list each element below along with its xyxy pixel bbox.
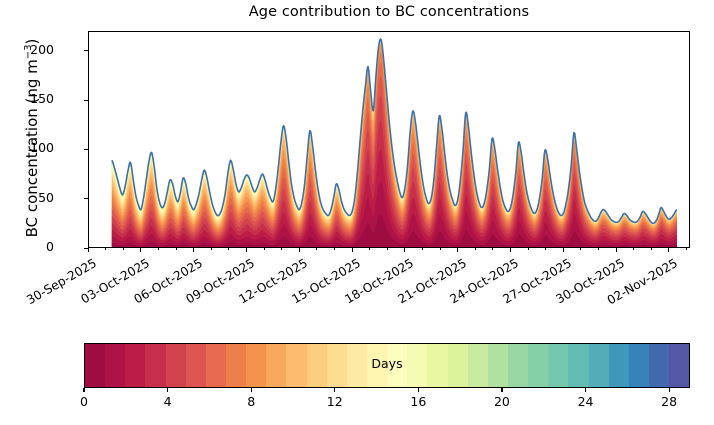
colorbar-segment — [609, 344, 629, 387]
x-tick-minor-mark — [598, 248, 599, 250]
x-tick-minor-mark — [105, 248, 106, 250]
x-tick-mark — [404, 248, 405, 252]
colorbar-tick-mark — [418, 388, 419, 392]
x-tick-minor-mark — [422, 248, 423, 250]
colorbar-segment — [649, 344, 669, 387]
x-tick-minor-mark — [387, 248, 388, 250]
colorbar-tick-label: 0 — [64, 394, 104, 409]
x-tick-mark — [457, 248, 458, 252]
colorbar-tick-label: 4 — [148, 394, 188, 409]
colorbar-segment — [206, 344, 226, 387]
plot-area — [88, 31, 690, 248]
colorbar-segment — [246, 344, 266, 387]
colorbar-tick-mark — [83, 388, 84, 392]
colorbar-segment — [508, 344, 528, 387]
stacked-area-plot — [89, 32, 690, 248]
x-tick-minor-mark — [528, 248, 529, 250]
x-tick-minor-mark — [228, 248, 229, 250]
x-tick-mark — [563, 248, 564, 252]
colorbar-segment — [589, 344, 609, 387]
colorbar-tick-label: 16 — [398, 394, 438, 409]
colorbar-segment — [407, 344, 427, 387]
x-tick-mark — [510, 248, 511, 252]
x-tick-minor-mark — [211, 248, 212, 250]
colorbar-segment — [266, 344, 286, 387]
colorbar-segment — [367, 344, 387, 387]
x-tick-minor-mark — [492, 248, 493, 250]
colorbar-segment — [387, 344, 407, 387]
colorbar[interactable] — [84, 343, 690, 388]
x-tick-mark — [352, 248, 353, 252]
colorbar-segment — [166, 344, 186, 387]
colorbar-segment — [226, 344, 246, 387]
x-tick-mark — [88, 248, 89, 252]
colorbar-segment — [186, 344, 206, 387]
x-tick-minor-mark — [633, 248, 634, 250]
colorbar-segment — [448, 344, 468, 387]
colorbar-segment — [125, 344, 145, 387]
x-tick-minor-mark — [281, 248, 282, 250]
x-tick-minor-mark — [545, 248, 546, 250]
colorbar-segment — [105, 344, 125, 387]
colorbar-segment — [568, 344, 588, 387]
y-tick-label: 0 — [14, 241, 54, 253]
x-tick-minor-mark — [316, 248, 317, 250]
colorbar-tick-label: 12 — [315, 394, 355, 409]
chart-title: Age contribution to BC concentrations — [88, 4, 690, 20]
x-tick-minor-mark — [369, 248, 370, 250]
colorbar-tick-label: 28 — [649, 394, 689, 409]
y-axis-ticks: 050100150200 — [0, 0, 88, 425]
figure-canvas: Age contribution to BC concentrations BC… — [0, 0, 714, 425]
x-tick-mark — [246, 248, 247, 252]
colorbar-tick-mark — [585, 388, 586, 392]
colorbar-segment — [629, 344, 649, 387]
colorbar-tick-mark — [501, 388, 502, 392]
colorbar-segment — [85, 344, 105, 387]
colorbar-segment — [347, 344, 367, 387]
colorbar-tick-mark — [334, 388, 335, 392]
colorbar-tick-mark — [167, 388, 168, 392]
x-tick-minor-mark — [123, 248, 124, 250]
x-tick-minor-mark — [440, 248, 441, 250]
x-tick-mark — [140, 248, 141, 252]
colorbar-segment — [145, 344, 165, 387]
x-tick-minor-mark — [264, 248, 265, 250]
y-tick-label: 50 — [14, 192, 54, 204]
colorbar-segment — [307, 344, 327, 387]
x-tick-mark — [299, 248, 300, 252]
colorbar-segment — [669, 344, 689, 387]
y-tick-label: 150 — [14, 93, 54, 105]
x-tick-minor-mark — [651, 248, 652, 250]
x-tick-minor-mark — [475, 248, 476, 250]
colorbar-tick-mark — [251, 388, 252, 392]
x-tick-mark — [668, 248, 669, 252]
x-tick-minor-mark — [580, 248, 581, 250]
x-tick-mark — [193, 248, 194, 252]
colorbar-segment — [327, 344, 347, 387]
x-tick-mark — [616, 248, 617, 252]
x-tick-minor-mark — [176, 248, 177, 250]
colorbar-segment — [528, 344, 548, 387]
x-tick-minor-mark — [686, 248, 687, 250]
colorbar-segment — [468, 344, 488, 387]
colorbar-tick-label: 20 — [482, 394, 522, 409]
x-tick-minor-mark — [158, 248, 159, 250]
colorbar-segment — [548, 344, 568, 387]
y-tick-label: 100 — [14, 142, 54, 154]
colorbar-tick-label: 8 — [231, 394, 271, 409]
colorbar-segment — [488, 344, 508, 387]
x-tick-minor-mark — [334, 248, 335, 250]
y-tick-label: 200 — [14, 44, 54, 56]
colorbar-segment — [286, 344, 306, 387]
colorbar-tick-label: 24 — [566, 394, 606, 409]
colorbar-tick-mark — [669, 388, 670, 392]
colorbar-segment — [427, 344, 447, 387]
